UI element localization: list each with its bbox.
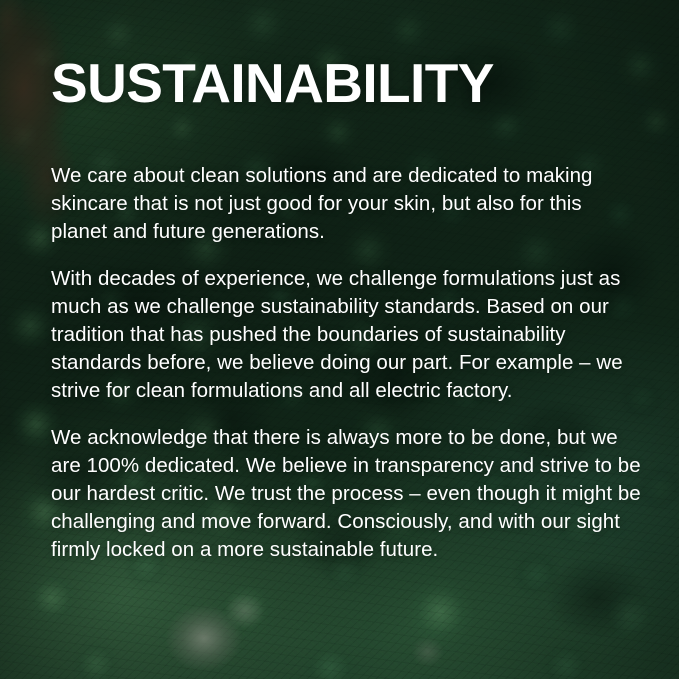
body-copy: We care about clean solutions and are de…: [51, 162, 643, 564]
paragraph-1: We care about clean solutions and are de…: [51, 162, 643, 246]
page-title: SUSTAINABILITY: [51, 53, 494, 113]
poster-content: SUSTAINABILITY We care about clean solut…: [51, 0, 643, 679]
sustainability-poster: SUSTAINABILITY We care about clean solut…: [0, 0, 679, 679]
paragraph-3: We acknowledge that there is always more…: [51, 424, 643, 564]
paragraph-2: With decades of experience, we challenge…: [51, 265, 643, 405]
